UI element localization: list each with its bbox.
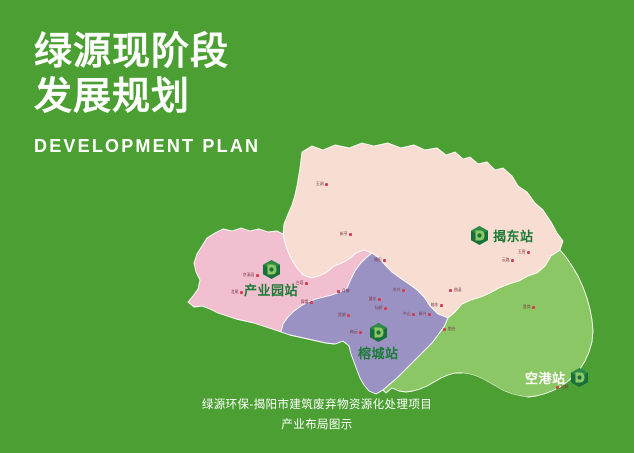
town-name: 新亨 xyxy=(340,232,348,237)
town-dot-icon xyxy=(305,282,308,285)
map-caption: 绿源环保-揭阳市建筑废弃物资源化处理项目 产业布局图示 xyxy=(0,395,634,435)
greensource-hex-icon xyxy=(571,368,588,387)
town-dot-icon xyxy=(347,314,350,317)
town-name: 月城 xyxy=(341,289,349,294)
town-dot-icon xyxy=(378,298,381,301)
town-dot-icon xyxy=(428,313,431,316)
town-label: 龙尾 xyxy=(231,290,243,295)
town-label: 登岗 xyxy=(523,305,535,310)
town-label: 曲溪 xyxy=(449,288,461,293)
town-dot-icon xyxy=(440,304,443,307)
town-dot-icon xyxy=(384,307,387,310)
greensource-hex-icon xyxy=(471,226,488,245)
town-label: 霖磐 xyxy=(301,300,313,305)
town-name: 仙桥 xyxy=(375,306,383,311)
town-name: 霖磐 xyxy=(301,300,309,305)
town-label: 新兴 xyxy=(419,312,431,317)
town-label: 云路 xyxy=(502,258,514,263)
greensource-hex-icon xyxy=(370,323,387,342)
station-marker-jiedong[interactable]: 揭东站 xyxy=(471,226,534,245)
station-label-konggang: 空港站 xyxy=(525,368,566,387)
town-label: 东兴 xyxy=(393,288,405,293)
town-label: 埔田 xyxy=(374,258,386,263)
town-name: 炮台 xyxy=(447,327,455,332)
town-label: 榕东 xyxy=(431,303,443,308)
town-dot-icon xyxy=(349,233,352,236)
town-label: 渔湖 xyxy=(338,313,350,318)
town-dot-icon xyxy=(240,291,243,294)
page-title-line2: 发展规划 xyxy=(34,75,260,120)
town-dot-icon xyxy=(402,289,405,292)
town-name: 登岗 xyxy=(523,305,531,310)
town-label: 月城 xyxy=(337,289,349,294)
town-name: 榕东 xyxy=(431,303,439,308)
town-name: 磐东 xyxy=(369,297,377,302)
development-plan-poster: 绿源现阶段 发展规划 DEVELOPMENT PLAN 揭东站 产业园站 xyxy=(0,0,634,453)
town-dot-icon xyxy=(325,183,328,186)
page-title-line1: 绿源现阶段 xyxy=(34,30,260,75)
town-dot-icon xyxy=(412,313,415,316)
town-name: 龙尾 xyxy=(231,290,239,295)
title-block: 绿源现阶段 发展规划 DEVELOPMENT PLAN xyxy=(34,30,260,157)
town-name: 中山 xyxy=(403,312,411,317)
town-dot-icon xyxy=(443,328,446,331)
town-label: 仙桥 xyxy=(375,306,387,311)
town-dot-icon xyxy=(383,259,386,262)
town-label: 玉湖 xyxy=(316,182,328,187)
town-name: 玉窖 xyxy=(518,250,526,255)
station-label-chanyeyuan: 产业园站 xyxy=(244,280,298,299)
town-label: 新亨 xyxy=(340,232,352,237)
station-marker-chanyeyuan[interactable]: 产业园站 xyxy=(244,260,298,299)
town-name: 东兴 xyxy=(393,288,401,293)
town-name: 曲溪 xyxy=(453,288,461,293)
station-marker-rongcheng[interactable]: 榕城站 xyxy=(358,323,399,362)
town-label: 炮台 xyxy=(443,327,455,332)
caption-line-2: 产业布局图示 xyxy=(0,415,634,435)
town-name: 新兴 xyxy=(419,312,427,317)
page-subtitle-english: DEVELOPMENT PLAN xyxy=(34,136,260,157)
town-dot-icon xyxy=(449,289,452,292)
town-name: 云路 xyxy=(502,258,510,263)
town-name: 渔湖 xyxy=(338,313,346,318)
town-dot-icon xyxy=(532,306,535,309)
station-label-rongcheng: 榕城站 xyxy=(358,343,399,362)
town-name: 玉湖 xyxy=(316,182,324,187)
town-name: 埔田 xyxy=(374,258,382,263)
town-dot-icon xyxy=(511,259,514,262)
town-label: 磐东 xyxy=(369,297,381,302)
caption-line-1: 绿源环保-揭阳市建筑废弃物资源化处理项目 xyxy=(0,395,634,415)
town-label: 玉窖 xyxy=(518,250,530,255)
greensource-hex-icon xyxy=(263,260,280,279)
station-label-jiedong: 揭东站 xyxy=(493,226,534,245)
town-dot-icon xyxy=(527,251,530,254)
town-dot-icon xyxy=(337,290,340,293)
town-dot-icon xyxy=(310,301,313,304)
town-name: 梅云 xyxy=(350,330,358,335)
town-label: 中山 xyxy=(403,312,415,317)
station-marker-konggang[interactable]: 空港站 xyxy=(525,368,588,387)
